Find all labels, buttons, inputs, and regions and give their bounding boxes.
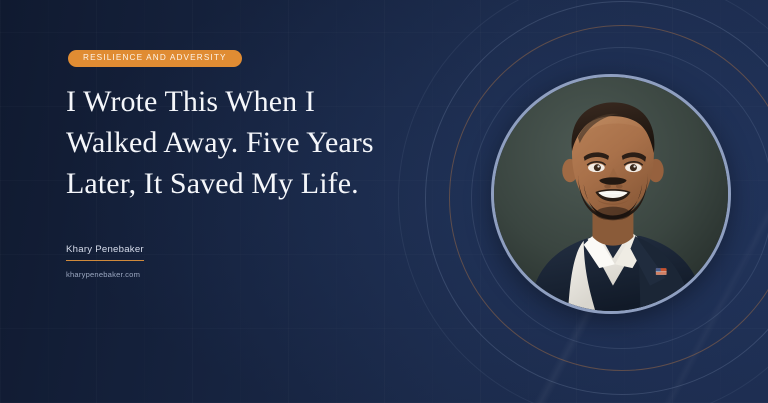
flag-lapel-pin — [656, 268, 667, 275]
portrait-illustration — [494, 77, 728, 311]
text-content: RESILIENCE AND ADVERSITY I Wrote This Wh… — [66, 0, 446, 403]
quote-card: RESILIENCE AND ADVERSITY I Wrote This Wh… — [0, 0, 768, 403]
author-block: Khary Penebaker kharypenebaker.com — [66, 239, 144, 279]
author-portrait — [491, 74, 731, 314]
author-website[interactable]: kharypenebaker.com — [66, 270, 144, 279]
category-badge[interactable]: RESILIENCE AND ADVERSITY — [68, 50, 242, 67]
author-name: Khary Penebaker — [66, 244, 144, 261]
headline: I Wrote This When I Walked Away. Five Ye… — [66, 82, 396, 204]
